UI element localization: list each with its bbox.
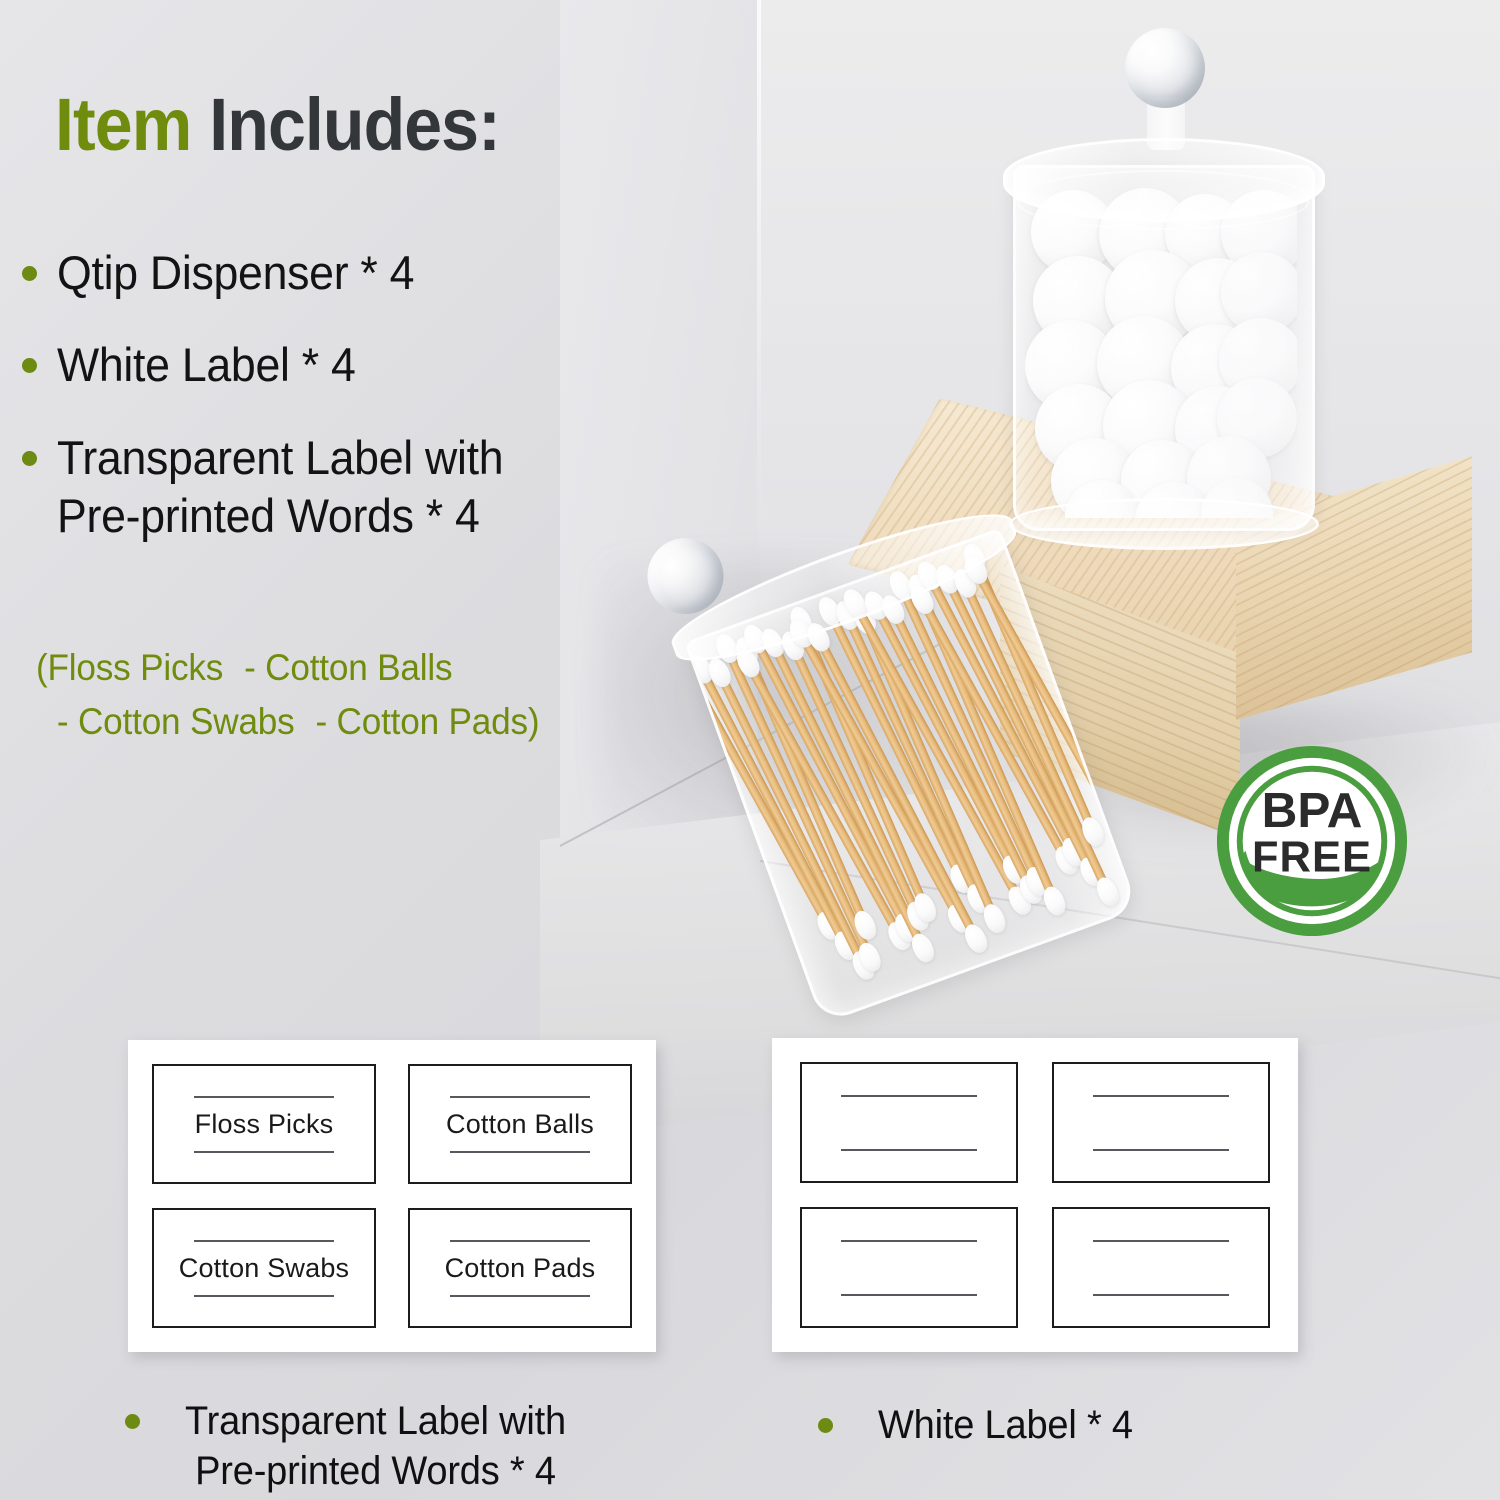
white-sheet-caption: White Label * 4 [818,1400,1146,1450]
label-rule-top [1093,1095,1230,1097]
preprinted-words-note: (Floss Picks- Cotton Balls - Cotton Swab… [36,641,539,748]
label-box: Cotton Balls [408,1064,632,1184]
list-item-line1: Transparent Label with [57,429,503,487]
bullet-dot-icon [22,266,37,281]
label-cell: Floss Picks [142,1056,386,1192]
note-close-paren: ) [528,701,540,742]
bpa-free-icon: BPA FREE [1213,742,1411,940]
label-rule-bottom [1093,1149,1230,1151]
white-label-sheet [772,1038,1298,1352]
swab-tip [1111,825,1139,860]
note-open-paren: ( [36,647,48,688]
bullet-dot-icon [818,1418,833,1433]
list-item-label: White Label * 4 [57,336,356,394]
bpa-text: BPA [1262,783,1363,838]
item-includes-list: Qtip Dispenser * 4 White Label * 4 Trans… [22,244,682,579]
list-item-label: Qtip Dispenser * 4 [57,244,414,302]
caption-label: Transparent Label with Pre-printed Words… [185,1396,566,1496]
list-item: Transparent Label with Pre-printed Words… [22,429,682,546]
note-item-cotton-balls: - Cotton Balls [244,647,452,688]
note-item-cotton-pads: - Cotton Pads [315,701,527,742]
jar-knob [1125,28,1205,108]
label-rule-top [841,1095,978,1097]
label-rule-top [450,1096,591,1098]
note-item-cotton-swabs: - Cotton Swabs [57,701,295,742]
bullet-dot-icon [22,451,37,466]
free-text: FREE [1252,834,1372,882]
bpa-free-badge: BPA FREE [1213,742,1411,940]
label-cell: Cotton Balls [398,1056,642,1192]
label-text: Cotton Swabs [179,1253,350,1284]
label-rule-top [1093,1240,1230,1242]
label-box: Cotton Pads [408,1208,632,1328]
list-item: Qtip Dispenser * 4 [22,244,682,302]
list-item: White Label * 4 [22,336,682,394]
caption-label: White Label * 4 [878,1400,1133,1450]
label-box: Floss Picks [152,1064,376,1184]
label-rule-top [841,1240,978,1242]
label-text: Cotton Pads [445,1253,596,1284]
caption-line-2: Pre-printed Words * 4 [185,1446,566,1496]
label-rule-bottom [1093,1294,1230,1296]
label-rule-bottom [450,1295,591,1297]
bullet-dot-icon [22,358,37,373]
label-cell [790,1054,1028,1191]
bullet-dot-icon [125,1414,140,1429]
label-rule-bottom [841,1149,978,1151]
label-cell [790,1199,1028,1336]
label-box [800,1062,1018,1183]
list-item-line1: Qtip Dispenser * 4 [57,244,414,302]
label-rule-bottom [194,1151,335,1153]
title-green-word: Item [55,83,191,166]
caption-line-1: White Label * 4 [878,1400,1133,1450]
transparent-sheet-caption: Transparent Label with Pre-printed Words… [125,1396,586,1496]
title-dark-word: Includes: [209,83,500,166]
label-text: Cotton Balls [446,1109,594,1140]
note-line-2: - Cotton Swabs- Cotton Pads) [36,695,539,749]
note-line-1: (Floss Picks- Cotton Balls [36,641,539,695]
label-box [1052,1062,1270,1183]
jar-lid-rim [1017,170,1309,230]
list-item-label: Transparent Label with Pre-printed Words… [57,429,503,546]
transparent-label-sheet: Floss Picks Cotton Balls Cotton Swabs Co… [128,1040,656,1352]
label-box: Cotton Swabs [152,1208,376,1328]
label-text: Floss Picks [195,1109,334,1140]
label-box [1052,1207,1270,1328]
label-rule-top [194,1240,335,1242]
page-title: Item Includes: [55,82,500,167]
label-cell [1042,1199,1280,1336]
label-rule-top [194,1096,335,1098]
caption-line-1: Transparent Label with [185,1396,566,1446]
label-rule-bottom [194,1295,335,1297]
label-rule-top [450,1240,591,1242]
note-item-floss-picks: Floss Picks [48,647,224,688]
label-cell: Cotton Swabs [142,1200,386,1336]
label-box [800,1207,1018,1328]
infographic-canvas: BPA FREE Item Includes: Qtip Dispenser *… [0,0,1500,1500]
label-rule-bottom [841,1294,978,1296]
label-rule-bottom [450,1151,591,1153]
label-cell [1042,1054,1280,1191]
label-cell: Cotton Pads [398,1200,642,1336]
list-item-line1: White Label * 4 [57,336,356,394]
list-item-line2: Pre-printed Words * 4 [57,487,503,545]
